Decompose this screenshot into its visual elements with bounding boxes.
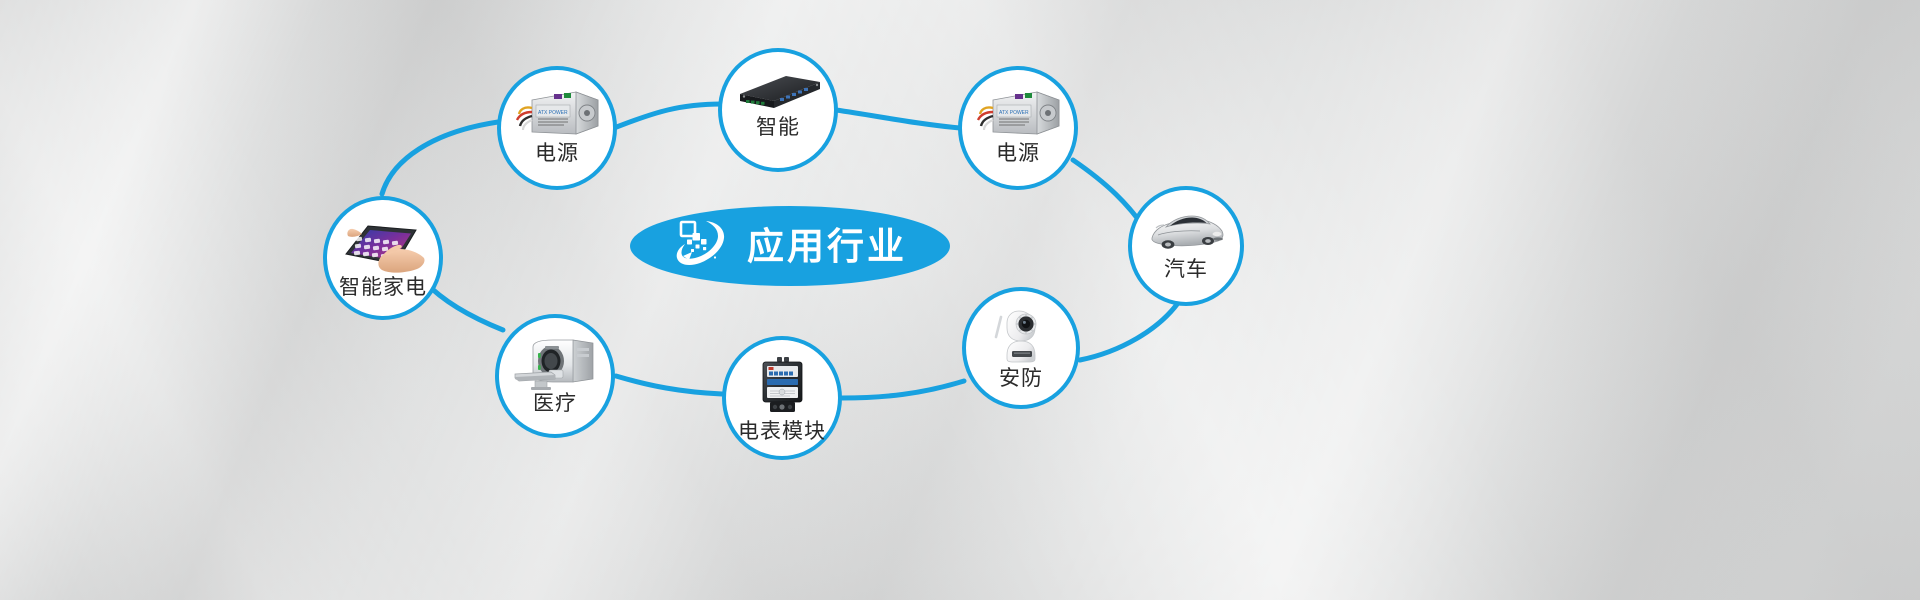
connector-security-meter (842, 381, 964, 398)
application-industries-diagram: ATX POWER 电源 (0, 0, 1920, 600)
node-smart[interactable]: 智能 (718, 48, 838, 172)
car-icon (1144, 206, 1228, 254)
connector-auto-security (1080, 303, 1178, 360)
node-psu-left[interactable]: ATX POWER 电源 (497, 66, 617, 190)
node-label: 智能家电 (339, 276, 427, 299)
node-label: 电源 (535, 142, 579, 165)
node-label: 电表模块 (738, 420, 826, 443)
connector-medical-appliance (425, 282, 503, 330)
ct-scanner-icon (511, 334, 599, 390)
node-label: 医疗 (533, 392, 577, 415)
connector-smart-psuright (836, 110, 960, 128)
node-appliance[interactable]: 智能家电 (323, 196, 443, 320)
node-auto[interactable]: 汽车 (1128, 186, 1244, 306)
tablet-touch-icon (338, 218, 428, 274)
node-meter[interactable]: 电表模块 (722, 336, 842, 460)
node-label: 安防 (999, 367, 1043, 390)
power-supply-icon: ATX POWER (975, 86, 1061, 140)
center-badge: 应用行业 (630, 206, 950, 286)
node-label: 汽车 (1164, 258, 1208, 281)
node-psu-right[interactable]: ATX POWER 电源 (958, 66, 1078, 190)
power-supply-icon: ATX POWER (514, 86, 600, 140)
connector-psuleft-smart (614, 104, 722, 128)
orbit-pixels-logo-icon (673, 215, 731, 278)
connector-ring (0, 0, 1920, 600)
rack-server-icon (734, 70, 822, 114)
svg-text:ATX POWER: ATX POWER (999, 110, 1029, 116)
node-security[interactable]: 安防 (962, 287, 1080, 409)
connector-meter-medical (616, 376, 722, 394)
connector-appliance-psuleft (382, 122, 498, 194)
electric-meter-icon (754, 356, 810, 418)
node-medical[interactable]: 医疗 (495, 314, 615, 438)
node-label: 智能 (756, 116, 800, 139)
center-badge-label: 应用行业 (747, 228, 907, 265)
svg-text:ATX POWER: ATX POWER (538, 110, 568, 116)
ip-camera-icon (985, 307, 1057, 365)
node-label: 电源 (996, 142, 1040, 165)
